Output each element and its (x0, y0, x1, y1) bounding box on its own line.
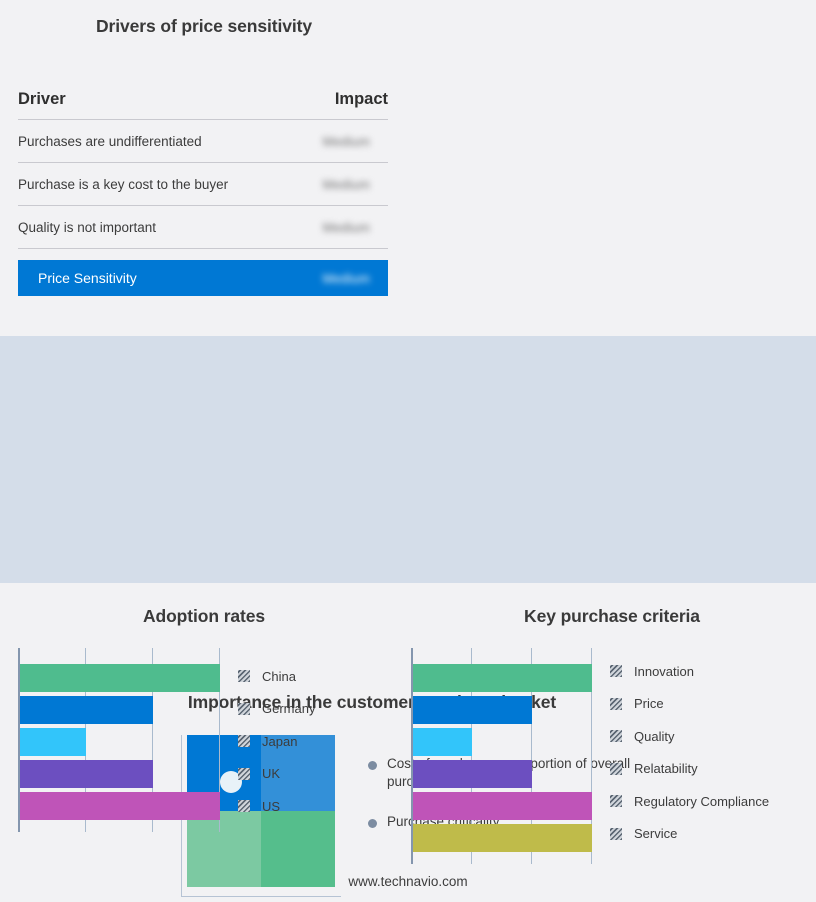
bar-relatability (413, 760, 532, 788)
hatch-swatch-icon (238, 703, 250, 715)
legend-label: China (262, 669, 296, 684)
legend-label: Price (634, 696, 664, 711)
hatch-swatch-icon (610, 698, 622, 710)
drivers-table-header-row: Driver Impact (18, 90, 388, 120)
legend-item-china[interactable]: China (238, 660, 315, 693)
bullet-icon (368, 819, 377, 828)
table-row: Purchase is a key cost to the buyer Medi… (18, 163, 388, 206)
bar-us (20, 792, 220, 820)
hatch-swatch-icon (610, 730, 622, 742)
legend-item-service[interactable]: Service (610, 818, 769, 851)
price-sensitivity-impact-redacted: Medium (323, 271, 370, 286)
driver-label: Purchases are undifferentiated (18, 134, 202, 149)
legend-label: Service (634, 826, 677, 841)
adoption-rates-title: Adoption rates (0, 606, 408, 627)
legend-item-quality[interactable]: Quality (610, 720, 769, 753)
adoption-rates-chart (18, 648, 220, 832)
adoption-lifecycle-panel: Adoption lifecycle Innovators EarlyAdopt… (408, 0, 816, 336)
key-purchase-criteria-title: Key purchase criteria (408, 606, 816, 627)
driver-label: Quality is not important (18, 220, 156, 235)
impact-value-redacted: Medium (323, 220, 370, 235)
impact-value-redacted: Medium (323, 177, 370, 192)
price-sensitivity-label: Price Sensitivity (38, 270, 137, 286)
legend-label: Japan (262, 734, 297, 749)
bar-germany (20, 696, 153, 724)
bar-regulatory-compliance (413, 792, 592, 820)
customer-purchase-basket-panel: Importance in the customer purchase bask… (0, 336, 816, 583)
key-purchase-criteria-chart (411, 648, 592, 864)
legend-item-regulatory-compliance[interactable]: Regulatory Compliance (610, 785, 769, 818)
table-row: Purchases are undifferentiated Medium (18, 120, 388, 163)
bar-uk (20, 760, 153, 788)
legend-item-uk[interactable]: UK (238, 758, 315, 791)
drivers-panel-title: Drivers of price sensitivity (0, 16, 408, 37)
hatch-swatch-icon (610, 828, 622, 840)
footer-url: www.technavio.com (0, 874, 816, 889)
legend-item-germany[interactable]: Germany (238, 693, 315, 726)
legend-label: Innovation (634, 664, 694, 679)
hatch-swatch-icon (610, 763, 622, 775)
hatch-swatch-icon (610, 665, 622, 677)
hatch-swatch-icon (238, 768, 250, 780)
legend-item-relatability[interactable]: Relatability (610, 753, 769, 786)
legend-item-us[interactable]: US (238, 790, 315, 823)
key-purchase-criteria-legend: Innovation Price Quality Relatability Re… (610, 655, 769, 850)
price-sensitivity-summary-row: Price Sensitivity Medium (18, 260, 388, 296)
hatch-swatch-icon (610, 795, 622, 807)
table-row: Quality is not important Medium (18, 206, 388, 249)
legend-label: Relatability (634, 761, 698, 776)
bar-japan (20, 728, 86, 756)
legend-label: US (262, 799, 280, 814)
legend-label: UK (262, 766, 280, 781)
bar-innovation (413, 664, 592, 692)
hatch-swatch-icon (238, 670, 250, 682)
adoption-rates-legend: China Germany Japan UK US (238, 660, 315, 823)
hatch-swatch-icon (238, 735, 250, 747)
column-header-impact: Impact (335, 90, 388, 109)
legend-item-japan[interactable]: Japan (238, 725, 315, 758)
legend-label: Regulatory Compliance (634, 794, 769, 809)
bar-china (20, 664, 220, 692)
hatch-swatch-icon (238, 800, 250, 812)
legend-item-innovation[interactable]: Innovation (610, 655, 769, 688)
driver-label: Purchase is a key cost to the buyer (18, 177, 228, 192)
drivers-table: Driver Impact Purchases are undifferenti… (18, 90, 388, 296)
impact-value-redacted: Medium (323, 134, 370, 149)
legend-label: Quality (634, 729, 674, 744)
legend-item-price[interactable]: Price (610, 688, 769, 721)
column-header-driver: Driver (18, 90, 66, 109)
bullet-icon (368, 761, 377, 770)
bar-quality (413, 728, 472, 756)
drivers-of-price-sensitivity-panel: Drivers of price sensitivity Driver Impa… (0, 0, 408, 336)
bar-price (413, 696, 532, 724)
bar-service (413, 824, 592, 852)
legend-label: Germany (262, 701, 315, 716)
